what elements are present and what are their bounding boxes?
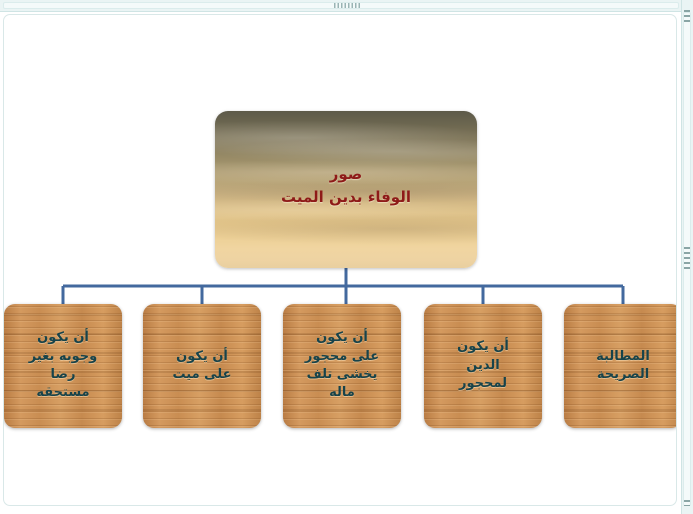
child-3-line-2: على محجور	[305, 348, 379, 366]
child-5-line-1: المطالبة	[596, 348, 650, 366]
child-3-line-3: يخشى تلف	[305, 366, 379, 384]
diagram-child-node-2[interactable]: أن يكون على ميت	[143, 304, 261, 428]
child-2-line-1: أن يكون	[173, 348, 232, 366]
child-1-line-3: رضا	[29, 366, 98, 384]
resize-handle-top-right-icon[interactable]	[684, 10, 690, 22]
editor-window: صور الوفاء بدين الميت أن يكون وجوبه بغير…	[0, 0, 693, 514]
root-title-line-1: صور	[215, 163, 477, 186]
child-1-line-2: وجوبه بغير	[29, 348, 98, 366]
child-node-5-text: المطالبة الصريحة	[590, 348, 656, 385]
child-5-line-2: الصريحة	[596, 366, 650, 384]
child-node-1-text: أن يكون وجوبه بغير رضا مستحقه	[23, 329, 104, 403]
diagram-child-node-3[interactable]: أن يكون على محجور يخشى تلف ماله	[283, 304, 401, 428]
root-node-title: صور الوفاء بدين الميت	[215, 163, 477, 209]
child-4-line-2: الدين	[457, 357, 509, 375]
resize-handle-middle-right-icon[interactable]	[684, 247, 690, 269]
child-1-line-4: مستحقه	[29, 384, 98, 402]
root-title-line-2: الوفاء بدين الميت	[215, 186, 477, 209]
child-3-line-1: أن يكون	[305, 329, 379, 347]
top-toolbar-rail	[0, 0, 693, 12]
child-2-line-2: على ميت	[173, 366, 232, 384]
diagram-child-node-5[interactable]: المطالبة الصريحة	[564, 304, 677, 428]
child-1-line-1: أن يكون	[29, 329, 98, 347]
drag-handle-dots-icon[interactable]	[334, 3, 360, 8]
child-4-line-3: لمحجور	[457, 375, 509, 393]
diagram-child-node-1[interactable]: أن يكون وجوبه بغير رضا مستحقه	[4, 304, 122, 428]
child-node-3-text: أن يكون على محجور يخشى تلف ماله	[299, 329, 385, 403]
diagram-child-node-4[interactable]: أن يكون الدين لمحجور	[424, 304, 542, 428]
child-4-line-1: أن يكون	[457, 338, 509, 356]
diagram-root-node[interactable]: صور الوفاء بدين الميت	[215, 111, 477, 268]
slide-canvas[interactable]: صور الوفاء بدين الميت أن يكون وجوبه بغير…	[3, 14, 677, 506]
child-3-line-4: ماله	[305, 384, 379, 402]
child-node-4-text: أن يكون الدين لمحجور	[451, 338, 515, 393]
resize-handle-bottom-right-icon[interactable]	[684, 500, 690, 506]
child-node-2-text: أن يكون على ميت	[167, 348, 238, 385]
